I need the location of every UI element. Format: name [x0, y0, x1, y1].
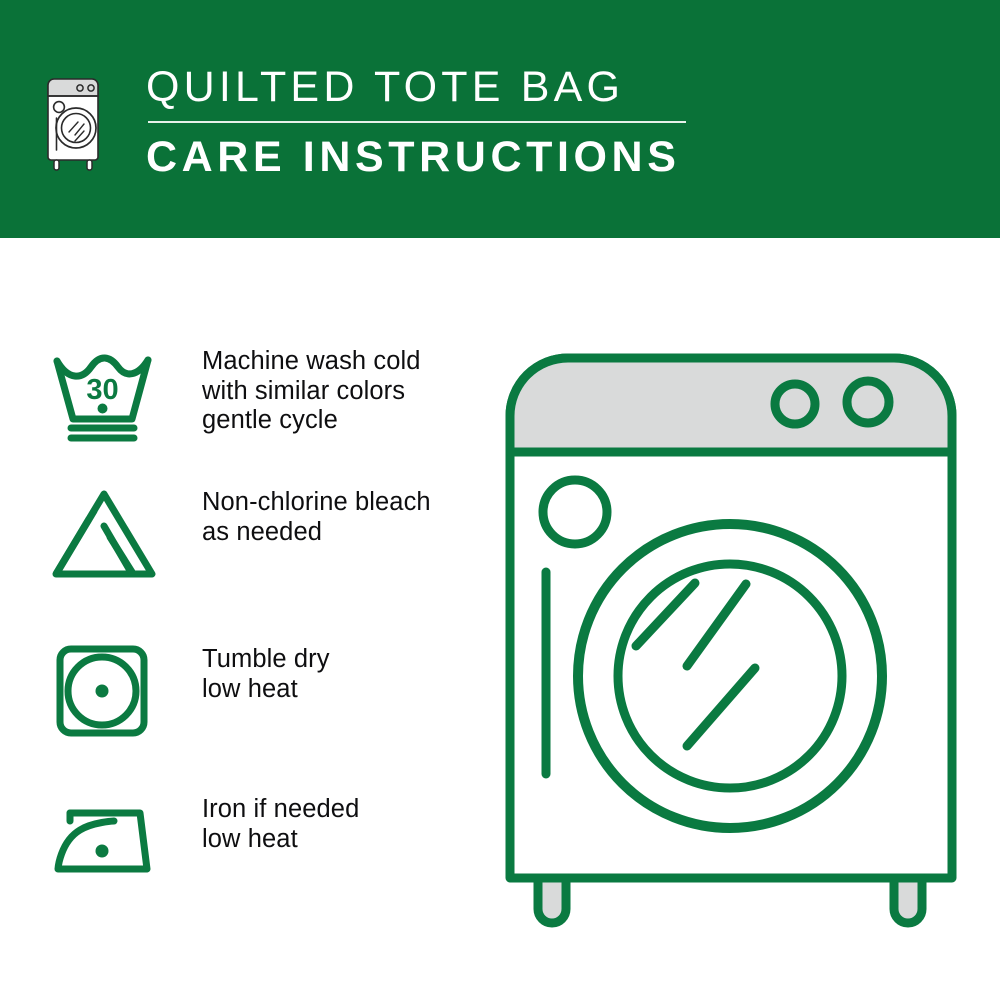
care-item-wash-text: Machine wash cold with similar colors ge…	[202, 346, 421, 436]
title-divider	[148, 121, 686, 123]
care-text-line: as needed	[202, 518, 431, 548]
wash-tub-30-icon: 30	[48, 346, 160, 442]
care-text-line: low heat	[202, 825, 359, 855]
page-subtitle: CARE INSTRUCTIONS	[146, 132, 686, 182]
care-item-iron-text: Iron if needed low heat	[202, 793, 359, 854]
care-text-line: with similar colors	[202, 377, 421, 407]
iron-low-heat-icon	[48, 793, 160, 889]
bleach-triangle-icon	[48, 486, 160, 582]
care-instructions-page: QUILTED TOTE BAG CARE INSTRUCTIONS 3	[0, 0, 1000, 1000]
care-item-tumble-dry: Tumble dry low heat	[48, 643, 330, 739]
wash-temperature-label: 30	[86, 374, 118, 406]
care-item-tumble-dry-text: Tumble dry low heat	[202, 643, 330, 704]
header-content: QUILTED TOTE BAG CARE INSTRUCTIONS	[42, 62, 686, 182]
care-instruction-list: 30 Machine wash cold with similar colors…	[0, 238, 470, 1000]
page-title: QUILTED TOTE BAG	[146, 62, 686, 112]
care-text-line: Machine wash cold	[202, 347, 421, 377]
care-text-line: gentle cycle	[202, 406, 421, 436]
care-item-bleach-text: Non-chlorine bleach as needed	[202, 486, 431, 547]
care-item-iron: Iron if needed low heat	[48, 793, 359, 889]
washing-machine-icon	[42, 66, 110, 174]
care-text-line: low heat	[202, 675, 330, 705]
header-banner: QUILTED TOTE BAG CARE INSTRUCTIONS	[0, 0, 1000, 238]
washing-machine-illustration	[490, 326, 970, 936]
header-title-group: QUILTED TOTE BAG CARE INSTRUCTIONS	[146, 62, 686, 182]
care-text-line: Non-chlorine bleach	[202, 488, 431, 518]
care-text-line: Iron if needed	[202, 795, 359, 825]
care-item-wash: 30 Machine wash cold with similar colors…	[48, 346, 421, 442]
tumble-dry-low-icon	[48, 643, 160, 739]
care-text-line: Tumble dry	[202, 645, 330, 675]
care-item-bleach: Non-chlorine bleach as needed	[48, 486, 431, 582]
